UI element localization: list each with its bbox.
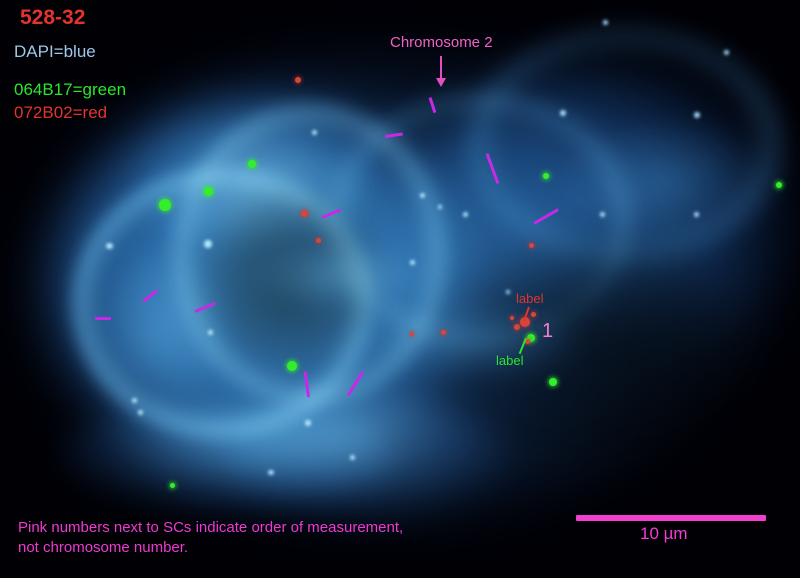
red-probe-signal xyxy=(441,330,446,335)
green-probe-callout-label: label xyxy=(496,354,523,369)
chromosome-2-label: Chromosome 2 xyxy=(390,34,493,51)
red-probe-signal xyxy=(514,324,520,330)
figure-caption: Pink numbers next to SCs indicate order … xyxy=(18,518,403,559)
green-probe-signal xyxy=(549,378,557,386)
legend-item-072B02: 072B02=red xyxy=(14,103,107,123)
chromatin-speck xyxy=(305,420,311,426)
red-probe-signal xyxy=(295,77,301,83)
chromatin-speck xyxy=(560,110,566,116)
sample-id-label: 528-32 xyxy=(20,6,85,30)
chromatin-speck xyxy=(694,112,700,118)
chromatin-speck xyxy=(724,50,729,55)
chromatin-speck xyxy=(438,205,442,209)
chromatin-speck xyxy=(694,212,699,217)
red-probe-signal xyxy=(410,332,414,336)
chromatin-texture xyxy=(90,250,230,420)
chromatin-speck xyxy=(106,243,113,249)
chromatin-speck xyxy=(312,130,317,135)
red-probe-signal xyxy=(301,210,308,217)
chromatin-speck xyxy=(600,212,605,217)
chromatin-speck xyxy=(420,193,425,198)
green-probe-signal xyxy=(543,173,549,179)
sc-order-number: 1 xyxy=(542,320,553,343)
legend-item-064B17: 064B17=green xyxy=(14,80,126,100)
chromatin-speck xyxy=(208,330,213,335)
green-probe-signal xyxy=(776,182,782,188)
chromatin-speck xyxy=(350,455,355,460)
green-probe-signal xyxy=(170,483,175,488)
chromatin-texture xyxy=(560,120,770,240)
red-probe-signal xyxy=(531,312,536,317)
chromatin-speck xyxy=(204,240,212,248)
scale-bar-label: 10 µm xyxy=(640,524,688,544)
green-probe-signal xyxy=(287,361,297,371)
scale-bar xyxy=(576,515,766,521)
chromosome-2-arrow-icon xyxy=(440,56,442,82)
chromatin-speck xyxy=(410,260,415,265)
chromatin-speck xyxy=(138,410,143,415)
chromatin-speck xyxy=(268,470,274,475)
red-probe-signal xyxy=(510,316,514,320)
chromatin-speck xyxy=(132,398,137,403)
green-probe-signal xyxy=(159,199,171,211)
green-probe-signal xyxy=(248,160,256,168)
red-probe-signal xyxy=(316,238,321,243)
red-probe-signal xyxy=(529,243,534,248)
sc-tick-mark xyxy=(95,317,111,320)
chromatin-speck xyxy=(506,290,510,294)
red-probe-callout-label: label xyxy=(516,292,543,307)
chromatin-speck xyxy=(463,212,468,217)
micrograph-canvas: 528-32 DAPI=blue 064B17=green 072B02=red… xyxy=(0,0,800,578)
green-probe-signal xyxy=(204,187,213,196)
chromatin-texture xyxy=(250,240,420,310)
legend-item-dapi: DAPI=blue xyxy=(14,42,96,62)
chromatin-speck xyxy=(603,20,608,25)
